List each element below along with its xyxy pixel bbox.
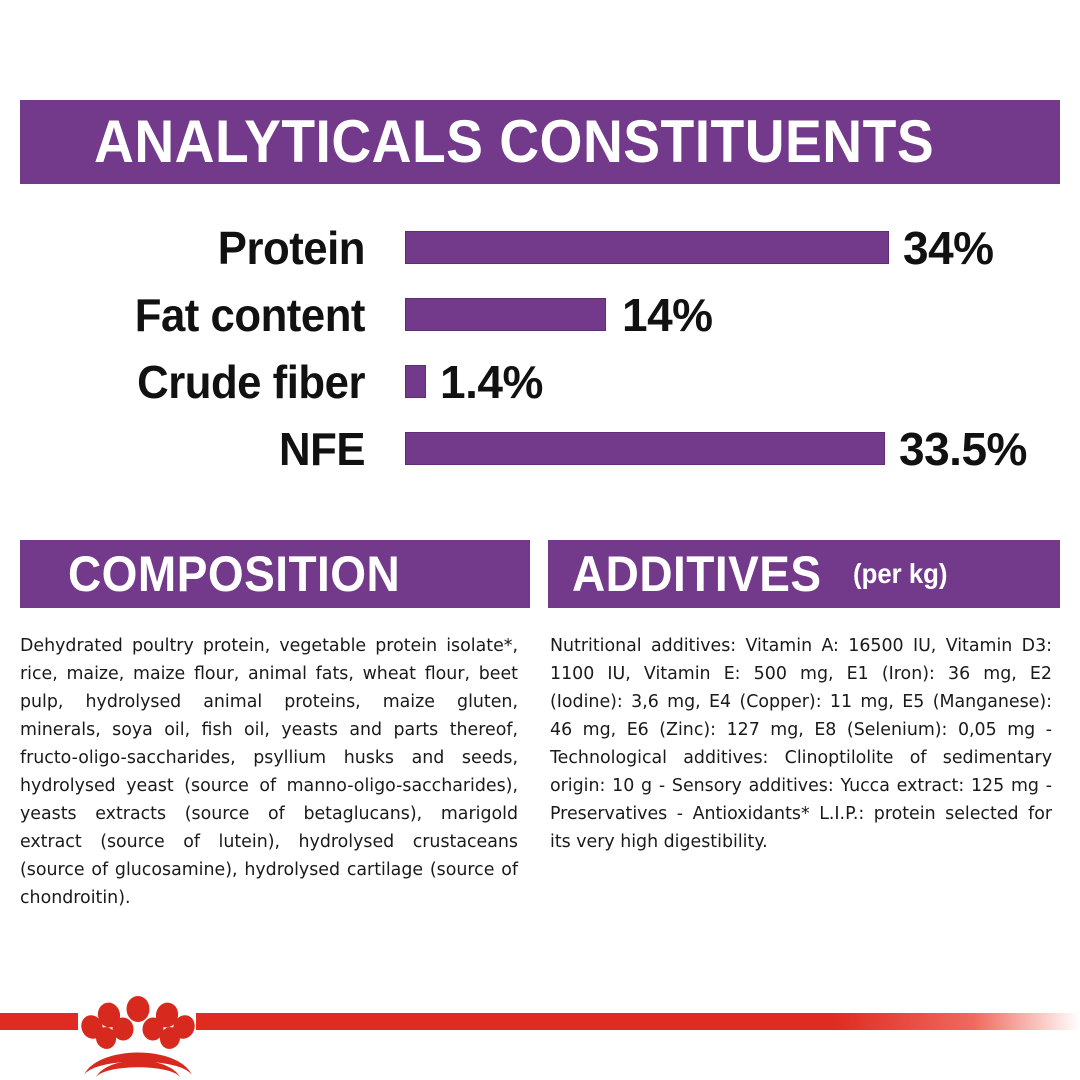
composition-header: COMPOSITION <box>20 540 530 608</box>
additives-body-text: Nutritional additives: Vitamin A: 16500 … <box>550 632 1052 856</box>
red-strip-left <box>0 1013 78 1030</box>
additives-header: ADDITIVES (per kg) <box>548 540 1060 608</box>
chart-row: Crude fiber 1.4% <box>0 348 1080 415</box>
bar-value-crude-fiber: 1.4% <box>440 359 543 405</box>
bar-label-nfe: NFE <box>18 426 365 472</box>
chart-row: Protein 34% <box>0 214 1080 281</box>
composition-body-text: Dehydrated poultry protein, vegetable pr… <box>20 632 518 912</box>
analyticals-title: ANALYTICALS CONSTITUENTS <box>94 112 934 172</box>
red-strip-right <box>196 1013 1080 1030</box>
bar-protein <box>405 231 889 264</box>
bar-value-fat-content: 14% <box>622 292 713 338</box>
bar-label-fat-content: Fat content <box>18 292 365 338</box>
bar-nfe <box>405 432 885 465</box>
analyticals-constituents-header: ANALYTICALS CONSTITUENTS <box>20 100 1060 184</box>
brand-footer <box>0 985 1080 1080</box>
additives-title: ADDITIVES <box>572 549 822 599</box>
composition-title: COMPOSITION <box>68 549 400 599</box>
royal-canin-paw-crown-icon <box>76 985 200 1080</box>
analyticals-bar-chart: Protein 34% Fat content 14% Crude fiber … <box>0 214 1080 482</box>
bar-fat-content <box>405 298 606 331</box>
bar-crude-fiber <box>405 365 426 398</box>
additives-subtitle: (per kg) <box>853 560 947 588</box>
bar-value-nfe: 33.5% <box>899 426 1027 472</box>
chart-row: Fat content 14% <box>0 281 1080 348</box>
bar-label-crude-fiber: Crude fiber <box>18 359 365 405</box>
chart-row: NFE 33.5% <box>0 415 1080 482</box>
bar-label-protein: Protein <box>18 225 365 271</box>
bar-value-protein: 34% <box>903 225 994 271</box>
